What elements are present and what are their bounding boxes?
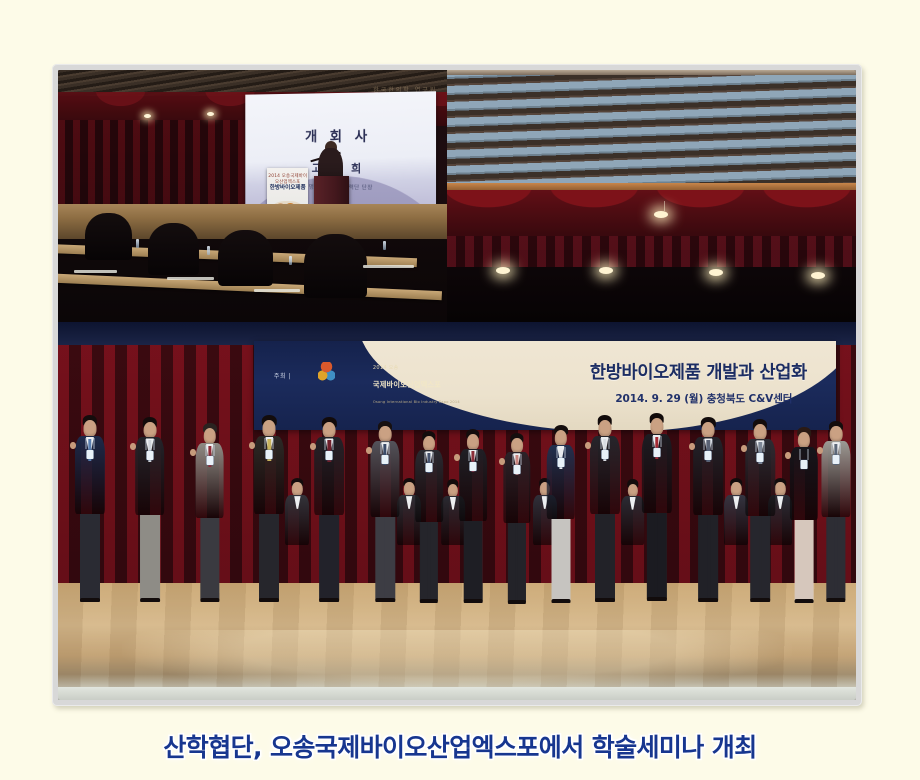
group-photo-person	[312, 418, 346, 621]
person-lanyard	[325, 439, 334, 450]
person-shoes	[80, 598, 100, 602]
person-lanyard	[800, 449, 809, 460]
audience-head	[148, 223, 199, 275]
person-shoes	[508, 600, 526, 604]
upper-collage-band: 한국한의학 연구원 개 회 사 고 숙 희 세명대학교 산학협력단 단장 201…	[58, 70, 856, 322]
person-shoes	[259, 598, 279, 602]
audience-head	[304, 234, 367, 298]
person-lanyard	[704, 439, 713, 450]
document-paper	[167, 277, 214, 280]
water-bottle	[383, 241, 386, 250]
conference-hall-photo: 한국한의학 연구원 개 회 사 고 숙 희 세명대학교 산학협력단 단장 201…	[58, 70, 449, 322]
person-necktie	[779, 498, 782, 516]
group-photo-person	[820, 422, 853, 621]
person-name-badge	[653, 448, 660, 457]
expo-logo-icon	[318, 362, 335, 383]
water-bottle	[136, 239, 139, 248]
person-name-badge	[757, 453, 764, 462]
person-shoes	[464, 599, 483, 603]
person-trousers	[319, 515, 339, 600]
person-head	[731, 482, 741, 496]
group-photo-person	[545, 426, 577, 621]
group-photo-person	[193, 424, 226, 621]
person-lanyard	[265, 438, 274, 449]
floor-light-glow	[122, 630, 792, 696]
person-head	[598, 420, 611, 437]
person-shoes	[750, 598, 770, 602]
person-lanyard	[652, 436, 661, 447]
person-name-badge	[833, 455, 840, 464]
person-necktie	[631, 499, 634, 516]
person-name-badge	[469, 462, 476, 471]
person-name-badge	[326, 451, 333, 460]
banner-subtitle: 2014. 9. 29 (월) 충청북도 C&V센터	[615, 391, 792, 406]
person-shoes	[375, 598, 394, 602]
person-head	[263, 420, 276, 437]
group-photo-person	[252, 416, 286, 621]
person-head	[650, 418, 663, 435]
person-raised-fist	[817, 447, 823, 454]
person-shoes	[826, 598, 845, 602]
person-trousers	[698, 515, 718, 600]
banner-expo-line3: Osong International Bio Industry Expo 20…	[373, 400, 460, 404]
audience-seating-area	[58, 204, 449, 322]
person-raised-fist	[499, 458, 505, 465]
stage-valance-photo	[447, 70, 856, 322]
person-shoes	[140, 598, 160, 602]
group-photo-person	[133, 418, 167, 621]
person-name-badge	[206, 456, 213, 465]
person-raised-fist	[366, 447, 372, 454]
person-lanyard	[600, 438, 609, 449]
group-photo-person	[788, 428, 820, 621]
person-head	[511, 438, 523, 453]
person-trousers	[646, 513, 666, 600]
person-head	[379, 426, 392, 442]
person-shoes	[595, 598, 615, 602]
person-shoes	[795, 599, 814, 603]
person-shoes	[420, 599, 438, 603]
group-photo-person	[413, 432, 444, 621]
person-name-badge	[705, 451, 712, 460]
person-trousers	[80, 514, 100, 600]
person-trousers	[508, 523, 526, 601]
person-trousers	[750, 516, 770, 600]
person-lanyard	[145, 439, 154, 450]
rollup-banner-line2: 한방바이오제품	[267, 183, 308, 191]
stage-light	[709, 269, 723, 276]
person-head	[830, 426, 843, 442]
person-shoes	[200, 598, 219, 602]
person-lanyard	[512, 454, 521, 465]
person-name-badge	[601, 450, 608, 459]
person-name-badge	[266, 450, 273, 459]
person-head	[323, 422, 336, 439]
person-shoes	[319, 598, 339, 602]
person-trousers	[551, 519, 570, 601]
person-head	[754, 424, 767, 441]
group-photo-person	[73, 416, 107, 621]
group-photo-person	[369, 422, 402, 621]
person-shoes	[698, 598, 718, 602]
group-photo-person	[744, 420, 777, 621]
person-trousers	[200, 518, 219, 601]
ceiling-spotlight	[207, 112, 214, 116]
ceiling-spotlight	[144, 114, 151, 118]
person-lanyard	[756, 441, 765, 452]
person-name-badge	[382, 455, 389, 464]
person-head	[292, 482, 302, 496]
person-necktie	[735, 498, 738, 516]
slide-title: 개 회 사	[245, 124, 435, 145]
water-bottle	[207, 246, 210, 255]
person-name-badge	[146, 451, 153, 460]
event-banner: 주최 | 2014 오송 국제바이오산업엑스포 Osong Internatio…	[254, 341, 837, 430]
person-necktie	[296, 498, 299, 516]
group-photo: 주최 | 2014 오송 국제바이오산업엑스포 Osong Internatio…	[58, 322, 856, 700]
blinds-top-rail	[447, 70, 856, 75]
audience-head	[85, 213, 132, 260]
person-trousers	[259, 514, 279, 600]
water-bottle	[289, 256, 292, 265]
person-head	[555, 430, 567, 446]
person-head	[467, 434, 479, 450]
dark-stage-area	[447, 267, 856, 322]
group-photo-person-back-row	[284, 479, 311, 575]
audience-head	[218, 230, 273, 287]
document-paper	[74, 270, 117, 273]
person-head	[143, 422, 156, 439]
person-head	[627, 484, 637, 497]
photo-frame: 한국한의학 연구원 개 회 사 고 숙 희 세명대학교 산학협력단 단장 201…	[52, 64, 862, 706]
person-trousers	[464, 521, 483, 601]
person-trousers	[420, 522, 438, 601]
banner-host-label: 주최 |	[274, 371, 291, 380]
person-trousers	[375, 517, 394, 600]
person-lanyard	[381, 443, 390, 454]
window-blinds	[447, 70, 856, 186]
document-paper	[363, 265, 414, 268]
group-photo-person	[457, 430, 489, 621]
person-lanyard	[85, 438, 94, 449]
person-head	[423, 436, 435, 452]
red-curtain-pleats	[447, 236, 856, 269]
person-shoes	[646, 597, 666, 601]
group-photo-person	[692, 418, 726, 621]
person-trousers	[795, 520, 814, 601]
person-name-badge	[801, 460, 808, 469]
page-caption: 산학협단, 오송국제바이오산업엑스포에서 학술세미나 개최	[0, 728, 920, 764]
stage-light	[496, 267, 510, 274]
person-head	[203, 428, 215, 444]
person-lanyard	[468, 450, 477, 461]
banner-title: 한방바이오제품 개발과 산업화	[590, 359, 807, 384]
stage-light	[599, 267, 613, 274]
person-raised-fist	[689, 443, 695, 450]
person-name-badge	[426, 463, 433, 472]
banner-expo-line1: 2014 오송	[373, 364, 399, 371]
person-name-badge	[513, 465, 520, 474]
photo-collage: 한국한의학 연구원 개 회 사 고 숙 희 세명대학교 산학협력단 단장 201…	[58, 70, 856, 700]
person-trousers	[140, 515, 160, 600]
person-lanyard	[556, 447, 565, 458]
stage-light	[811, 272, 825, 279]
person-lanyard	[425, 452, 434, 463]
person-shoes	[551, 599, 570, 603]
stage-edge-strip	[58, 687, 856, 700]
person-trousers	[595, 514, 615, 600]
person-necktie	[452, 499, 455, 516]
person-lanyard	[205, 445, 214, 456]
group-photo-person	[588, 416, 622, 621]
person-raised-fist	[741, 445, 747, 452]
person-trousers	[826, 517, 845, 600]
person-raised-fist	[70, 442, 76, 449]
person-raised-fist	[310, 443, 316, 450]
person-head	[702, 422, 715, 439]
person-name-badge	[86, 450, 93, 459]
person-head	[798, 432, 810, 448]
person-head	[83, 420, 96, 437]
stage-light	[654, 211, 668, 218]
banner-expo-line2: 국제바이오산업엑스포	[373, 380, 441, 390]
person-name-badge	[557, 458, 564, 467]
person-raised-fist	[585, 442, 591, 449]
person-necktie	[408, 498, 411, 516]
person-lanyard	[832, 443, 841, 454]
stage-light-stem	[664, 201, 665, 211]
group-photo-person	[501, 434, 532, 621]
document-paper	[254, 289, 301, 292]
group-photo-person	[639, 414, 673, 621]
